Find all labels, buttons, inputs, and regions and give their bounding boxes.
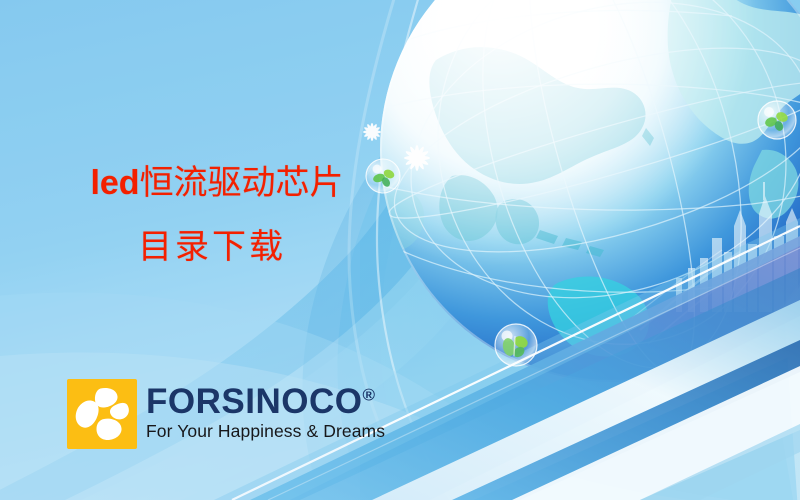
headline-line-2: 目录下载 <box>0 224 420 270</box>
company-logo[interactable]: FORSINOCO® For Your Happiness & Dreams <box>67 379 385 449</box>
headline-latin-word: led <box>90 164 139 202</box>
four-petal-pinwheel-icon <box>67 379 137 449</box>
headline-line-1: led恒流驱动芯片 <box>0 160 420 206</box>
registered-trademark-icon: ® <box>362 385 375 404</box>
bubble-pinwheel-right <box>758 101 796 139</box>
logo-wordmark-text: FORSINOCO <box>146 382 362 421</box>
bubble-leaves-center <box>495 324 537 366</box>
headline-cjk-word: 恒流驱动芯片 <box>140 163 344 203</box>
promo-banner: led恒流驱动芯片 目录下载 FORSINOCO® For <box>0 0 800 500</box>
headline-text-block: led恒流驱动芯片 目录下载 <box>0 160 420 270</box>
logo-wordmark: FORSINOCO® <box>146 385 385 419</box>
logo-text-block: FORSINOCO® For Your Happiness & Dreams <box>146 379 385 441</box>
logo-tagline: For Your Happiness & Dreams <box>146 421 385 441</box>
